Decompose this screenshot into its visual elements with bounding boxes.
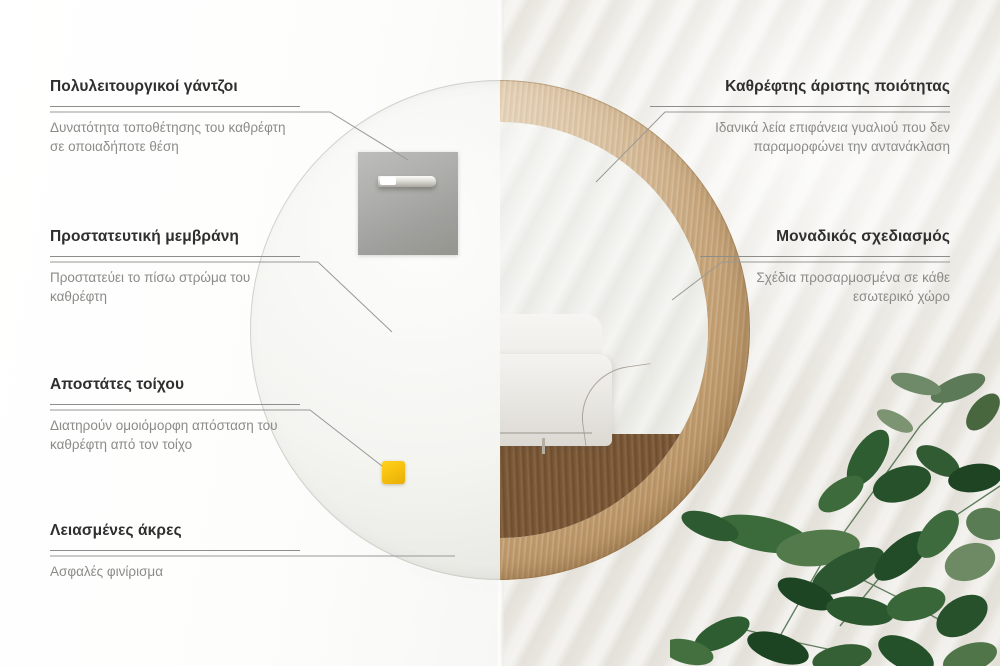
callout-unique-design: Μοναδικός σχεδιασμός Σχέδια προσαρμοσμέν…	[700, 228, 950, 307]
callout-title: Λειασμένες άκρες	[50, 522, 300, 541]
callout-wall-spacers: Αποστάτες τοίχου Διατηρούν ομοιόμορφη απ…	[50, 376, 300, 455]
callout-title: Μοναδικός σχεδιασμός	[700, 228, 950, 247]
callout-description: Διατηρούν ομοιόμορφη απόσταση του καθρέφ…	[50, 416, 300, 455]
wall-spacer-chip	[382, 461, 405, 484]
callout-rule	[50, 404, 300, 405]
infographic-canvas: Πολυλειτουργικοί γάντζοι Δυνατότητα τοπο…	[0, 0, 1000, 666]
callout-title: Αποστάτες τοίχου	[50, 376, 300, 395]
callout-protective-membrane: Προστατευτική μεμβράνη Προστατεύει το πί…	[50, 228, 300, 307]
callout-title: Καθρέφτης άριστης ποιότητας	[650, 78, 950, 97]
hanging-hook-icon	[378, 176, 436, 187]
callout-top-quality-mirror: Καθρέφτης άριστης ποιότητας Ιδανικά λεία…	[650, 78, 950, 157]
callout-rule	[50, 106, 300, 107]
callout-multifunctional-hooks: Πολυλειτουργικοί γάντζοι Δυνατότητα τοπο…	[50, 78, 300, 157]
callout-title: Πολυλειτουργικοί γάντζοι	[50, 78, 300, 97]
callout-rule	[50, 550, 300, 551]
callout-description: Δυνατότητα τοποθέτησης του καθρέφτη σε ο…	[50, 118, 300, 157]
callout-description: Προστατεύει το πίσω στρώμα του καθρέφτη	[50, 268, 300, 307]
callout-smoothed-edges: Λειασμένες άκρες Ασφαλές φινίρισμα	[50, 522, 300, 581]
callout-rule	[50, 256, 300, 257]
callout-description: Σχέδια προσαρμοσμένα σε κάθε εσωτερικό χ…	[700, 268, 950, 307]
callout-rule	[650, 106, 950, 107]
callout-description: Ασφαλές φινίρισμα	[50, 562, 300, 582]
reflection-sofa-leg	[542, 438, 545, 454]
hook-detail-inset	[358, 152, 458, 255]
callout-rule	[700, 256, 950, 257]
foliage-decoration	[670, 366, 1000, 666]
callout-title: Προστατευτική μεμβράνη	[50, 228, 300, 247]
leaf-branches-icon	[670, 366, 1000, 666]
callout-description: Ιδανικά λεία επιφάνεια γυαλιού που δεν π…	[650, 118, 950, 157]
